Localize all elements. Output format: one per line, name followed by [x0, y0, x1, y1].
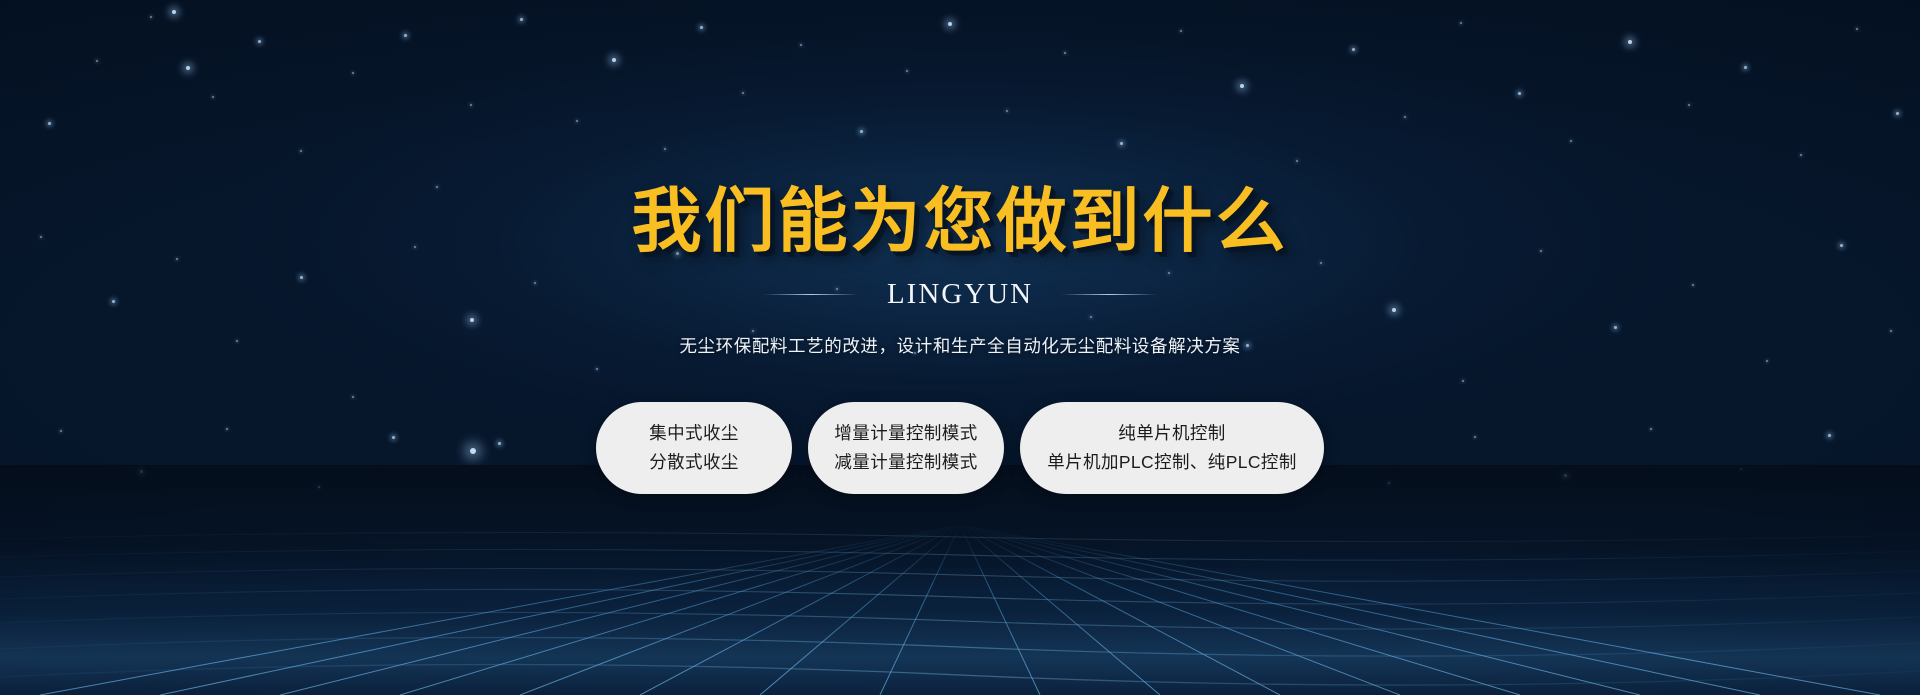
feature-card-list: 集中式收尘 分散式收尘 增量计量控制模式 减量计量控制模式 纯单片机控制 单片机…	[596, 402, 1324, 494]
feature-card-line: 纯单片机控制	[1118, 419, 1225, 447]
hero-banner: 我们能为您做到什么 LINGYUN 无尘环保配料工艺的改进，设计和生产全自动化无…	[0, 0, 1920, 695]
divider-right	[1061, 294, 1157, 295]
feature-card-metering-mode[interactable]: 增量计量控制模式 减量计量控制模式	[808, 402, 1004, 494]
feature-card-line: 减量计量控制模式	[834, 448, 977, 476]
feature-card-line: 分散式收尘	[649, 448, 739, 476]
banner-description: 无尘环保配料工艺的改进，设计和生产全自动化无尘配料设备解决方案	[679, 333, 1240, 358]
page-title: 我们能为您做到什么	[632, 186, 1289, 256]
brand-subtitle-row: LINGYUN	[763, 278, 1157, 311]
divider-left	[763, 294, 859, 295]
feature-card-line: 单片机加PLC控制、纯PLC控制	[1047, 448, 1297, 476]
feature-card-line: 集中式收尘	[649, 419, 739, 447]
brand-name: LINGYUN	[887, 278, 1033, 311]
feature-card-dust-collection[interactable]: 集中式收尘 分散式收尘	[596, 402, 792, 494]
feature-card-line: 增量计量控制模式	[834, 419, 977, 447]
banner-content: 我们能为您做到什么 LINGYUN 无尘环保配料工艺的改进，设计和生产全自动化无…	[0, 0, 1920, 695]
feature-card-control-system[interactable]: 纯单片机控制 单片机加PLC控制、纯PLC控制	[1020, 402, 1324, 494]
